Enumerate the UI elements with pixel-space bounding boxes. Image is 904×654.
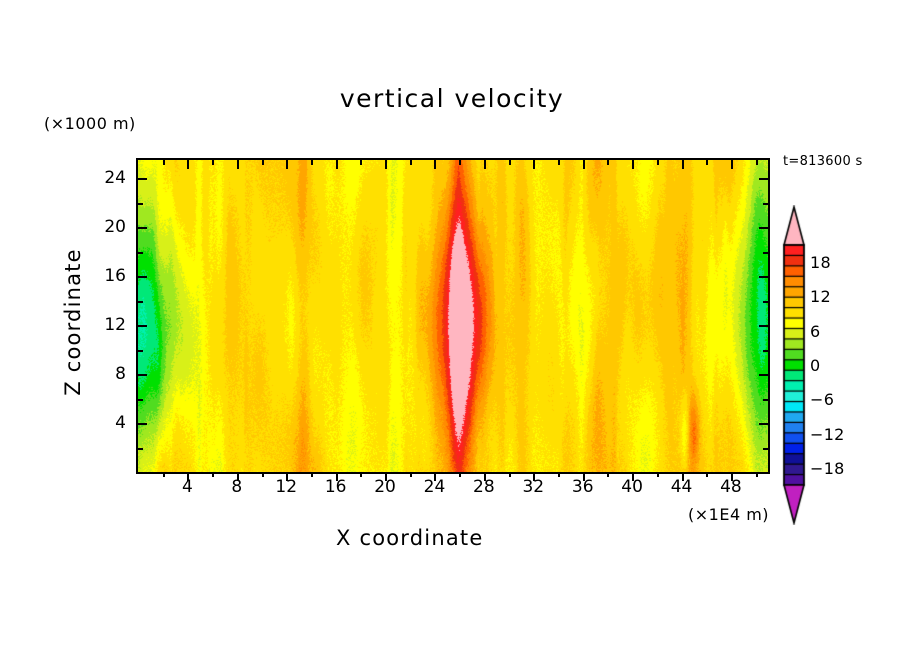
colorbar-tick-label: 18: [810, 253, 831, 272]
x-tick-top: [706, 160, 708, 165]
contour-field: [138, 160, 768, 472]
x-tick-label: 16: [316, 477, 356, 497]
y-tick-label: 20: [86, 217, 126, 237]
y-major-tick: [138, 423, 147, 425]
y-axis-units-label: (×1000 m): [44, 114, 136, 133]
y-minor-tick: [138, 350, 143, 352]
x-minor-tick: [607, 472, 609, 477]
x-tick-top: [360, 160, 362, 165]
x-axis-units-label: (×1E4 m): [688, 505, 769, 524]
x-minor-tick: [410, 472, 412, 477]
x-minor-tick: [706, 472, 708, 477]
x-minor-tick: [212, 472, 214, 477]
x-tick-top: [632, 160, 634, 169]
x-tick-top: [731, 160, 733, 169]
y-tick-right: [759, 374, 768, 376]
y-major-tick: [138, 276, 147, 278]
y-major-tick: [138, 374, 147, 376]
y-tick-right: [759, 325, 768, 327]
x-tick-top: [434, 160, 436, 169]
x-tick-label: 44: [662, 477, 702, 497]
x-tick-label: 28: [464, 477, 504, 497]
x-axis-title: X coordinate: [336, 526, 483, 550]
x-tick-top: [237, 160, 239, 169]
x-tick-top: [163, 160, 165, 165]
x-tick-top: [212, 160, 214, 165]
x-tick-top: [682, 160, 684, 169]
y-tick-right: [759, 227, 768, 229]
y-tick-right: [759, 276, 768, 278]
x-minor-tick: [756, 472, 758, 477]
x-tick-label: 20: [365, 477, 405, 497]
y-tick-right: [763, 252, 768, 254]
x-tick-label: 4: [167, 477, 207, 497]
plot-title: vertical velocity: [0, 84, 904, 113]
x-tick-label: 40: [612, 477, 652, 497]
y-tick-right: [759, 178, 768, 180]
x-tick-top: [336, 160, 338, 169]
plot-area: [136, 158, 770, 474]
x-tick-top: [262, 160, 264, 165]
timestamp-annotation: t=813600 s: [783, 154, 863, 169]
x-tick-top: [756, 160, 758, 165]
x-minor-tick: [360, 472, 362, 477]
y-axis-title: Z coordinate: [61, 227, 85, 417]
x-tick-top: [311, 160, 313, 165]
y-tick-right: [763, 203, 768, 205]
x-tick-label: 24: [414, 477, 454, 497]
x-tick-top: [509, 160, 511, 165]
x-tick-top: [657, 160, 659, 165]
x-tick-label: 48: [711, 477, 751, 497]
x-minor-tick: [459, 472, 461, 477]
y-minor-tick: [138, 448, 143, 450]
x-tick-top: [286, 160, 288, 169]
y-tick-right: [763, 399, 768, 401]
x-minor-tick: [558, 472, 560, 477]
y-tick-right: [763, 448, 768, 450]
contour-plot-figure: vertical velocity (×1000 m) t=813600 s X…: [0, 0, 904, 654]
y-minor-tick: [138, 203, 143, 205]
y-tick-label: 8: [86, 364, 126, 384]
x-minor-tick: [163, 472, 165, 477]
x-tick-top: [459, 160, 461, 165]
x-minor-tick: [657, 472, 659, 477]
colorbar-tick-label: 6: [810, 322, 820, 341]
x-tick-top: [385, 160, 387, 169]
colorbar: [779, 205, 813, 525]
y-minor-tick: [138, 252, 143, 254]
x-minor-tick: [262, 472, 264, 477]
y-minor-tick: [138, 399, 143, 401]
colorbar-tick-label: −12: [810, 425, 845, 444]
colorbar-gradient: [779, 205, 813, 525]
x-tick-top: [484, 160, 486, 169]
x-minor-tick: [311, 472, 313, 477]
x-tick-top: [410, 160, 412, 165]
colorbar-tick-label: −6: [810, 390, 834, 409]
y-major-tick: [138, 178, 147, 180]
x-tick-label: 8: [217, 477, 257, 497]
colorbar-tick-label: 0: [810, 356, 820, 375]
y-tick-label: 16: [86, 266, 126, 286]
y-tick-right: [759, 423, 768, 425]
x-tick-label: 12: [266, 477, 306, 497]
x-minor-tick: [509, 472, 511, 477]
y-tick-label: 4: [86, 413, 126, 433]
x-tick-top: [607, 160, 609, 165]
x-tick-label: 36: [563, 477, 603, 497]
x-tick-top: [583, 160, 585, 169]
y-minor-tick: [138, 301, 143, 303]
y-tick-label: 24: [86, 168, 126, 188]
y-tick-right: [763, 301, 768, 303]
y-major-tick: [138, 227, 147, 229]
colorbar-tick-label: −18: [810, 459, 845, 478]
y-major-tick: [138, 325, 147, 327]
x-tick-top: [533, 160, 535, 169]
x-tick-top: [187, 160, 189, 169]
colorbar-tick-label: 12: [810, 287, 831, 306]
y-tick-right: [763, 350, 768, 352]
y-tick-label: 12: [86, 315, 126, 335]
x-tick-top: [558, 160, 560, 165]
x-tick-label: 32: [513, 477, 553, 497]
